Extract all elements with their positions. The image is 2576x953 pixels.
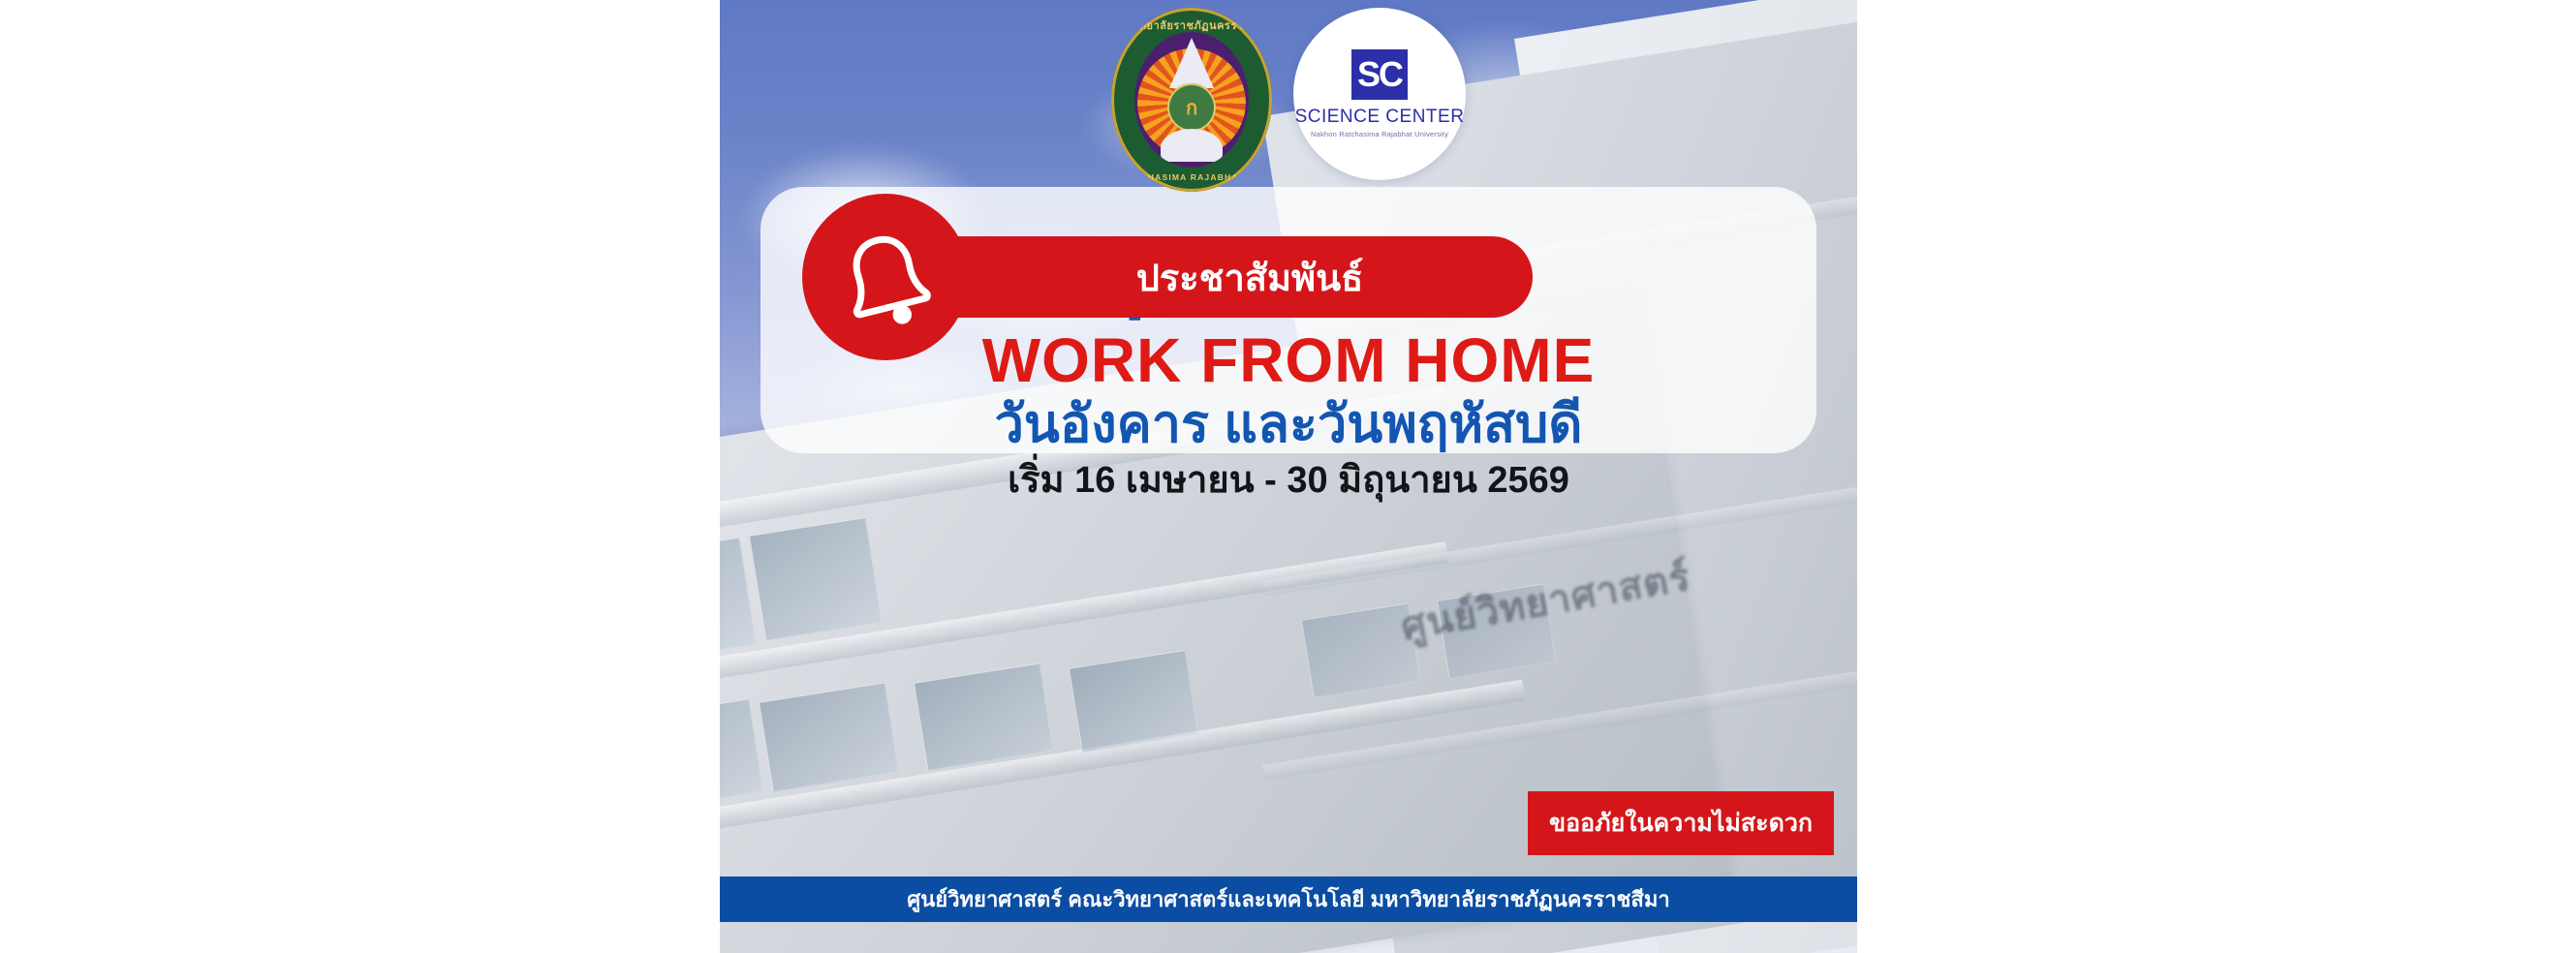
seal-base-icon	[1161, 129, 1223, 162]
sc-monogram: SC	[1351, 49, 1408, 100]
bell-icon	[833, 225, 938, 329]
announcement-label: ประชาสัมพันธ์	[1080, 248, 1364, 307]
announcement-pill: ประชาสัมพันธ์	[911, 236, 1533, 318]
logo-row: มหาวิทยาลัยราชภัฏนครราชสีมา NAKHON RATCH…	[720, 8, 1857, 192]
days-line: วันอังคาร และวันพฤหัสบดี	[760, 398, 1816, 451]
announcement-poster: ❊ ศูนย์วิทยาศาสตร์ มหาวิทยาลัยราชภัฏนครร…	[720, 0, 1857, 953]
bell-badge	[802, 194, 969, 360]
seal-english-text: NAKHON RATCHASIMA RAJABHAT UNIVERSITY	[1111, 172, 1272, 182]
footer-bar: ศูนย์วิทยาศาสตร์ คณะวิทยาศาสตร์และเทคโนโ…	[720, 876, 1857, 922]
seal-core-glyph: ก	[1167, 83, 1216, 132]
page-canvas: ❊ ศูนย์วิทยาศาสตร์ มหาวิทยาลัยราชภัฏนครร…	[0, 0, 2576, 953]
dates-line: เริ่ม 16 เมษายน - 30 มิถุนายน 2569	[760, 461, 1816, 502]
sc-subtitle-label: Nakhon Ratchasima Rajabhat University	[1311, 130, 1448, 138]
seal-inner-disc: ก	[1134, 32, 1249, 168]
university-seal-icon: มหาวิทยาลัยราชภัฏนครราชสีมา NAKHON RATCH…	[1111, 8, 1272, 192]
apology-badge: ขออภัยในความไม่สะดวก	[1528, 791, 1834, 855]
announcement-banner: ประชาสัมพันธ์	[802, 194, 1533, 360]
sc-name-label: SCIENCE CENTER	[1295, 107, 1465, 128]
footer-text: ศูนย์วิทยาศาสตร์ คณะวิทยาศาสตร์และเทคโนโ…	[907, 882, 1669, 916]
pagoda-icon	[1169, 38, 1214, 88]
science-center-logo-icon: SC SCIENCE CENTER Nakhon Ratchasima Raja…	[1293, 8, 1466, 180]
